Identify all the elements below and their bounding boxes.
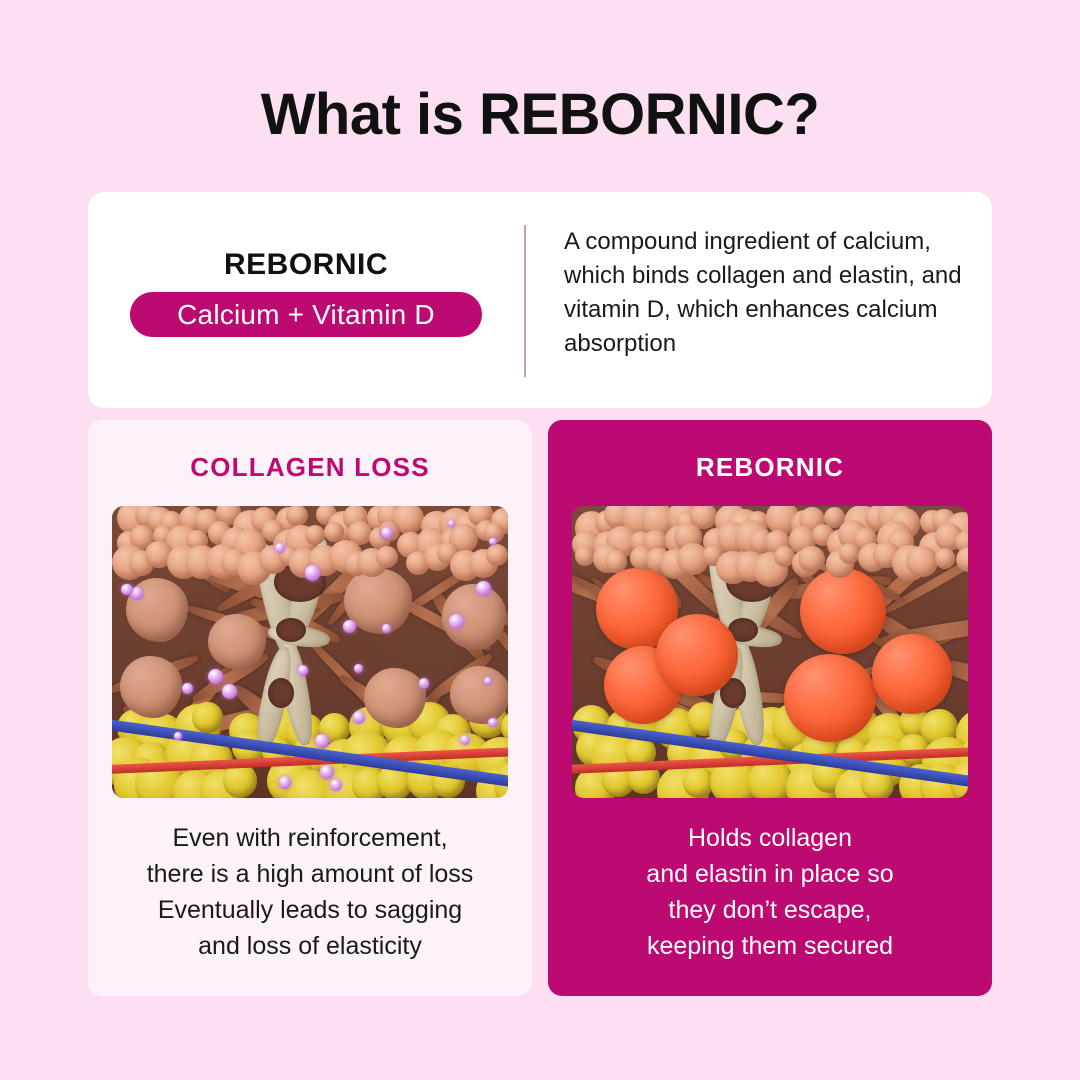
brand-ingredient-badge: Calcium + Vitamin D [130, 292, 482, 337]
fat-globule [192, 702, 222, 732]
calcium-particle [279, 776, 291, 788]
panel-rebornic: REBORNIC Holds collagenand elastin in pl… [548, 420, 992, 996]
caption-line: there is a high amount of loss [147, 860, 474, 888]
keratinocyte-cell [935, 548, 955, 568]
caption-line: Eventually leads to sagging [158, 896, 462, 924]
calcium-particle [382, 624, 391, 633]
calcium-particle [298, 665, 308, 675]
info-card-description: A compound ingredient of calcium, which … [564, 225, 984, 361]
calcium-particle [330, 779, 342, 791]
rebornic-sphere [872, 634, 952, 714]
keratinocyte-cell [798, 546, 824, 572]
illustration-rebornic [572, 506, 968, 798]
info-card-left: REBORNIC Calcium + Vitamin D [88, 192, 524, 408]
panel-collagen-loss: COLLAGEN LOSS Even with reinforcement,th… [88, 420, 532, 996]
calcium-particle [460, 735, 470, 745]
elastin-lattice-hole [276, 618, 306, 642]
epidermis-layer [572, 506, 968, 611]
keratinocyte-cell [305, 525, 325, 545]
collagen-mass [120, 656, 182, 718]
keratinocyte-cell [605, 550, 627, 572]
calcium-particle [315, 734, 329, 748]
info-card-divider [524, 225, 526, 377]
calcium-particle [489, 538, 496, 545]
caption-line: and elastin in place so [646, 860, 893, 888]
keratinocyte-cell [376, 546, 398, 568]
rebornic-sphere [784, 654, 876, 742]
calcium-particle [354, 664, 363, 673]
caption-line: Even with reinforcement, [172, 824, 447, 852]
panel-caption-rebornic: Holds collagenand elastin in place sothe… [548, 820, 992, 964]
calcium-particle [320, 765, 335, 780]
rebornic-sphere [656, 614, 738, 696]
keratinocyte-cell [956, 547, 968, 573]
caption-line: keeping them secured [647, 932, 893, 960]
calcium-particle [476, 581, 491, 596]
panel-heading-rebornic: REBORNIC [548, 452, 992, 483]
brand-name: REBORNIC [88, 248, 524, 282]
caption-line: Holds collagen [688, 824, 852, 852]
keratinocyte-cell [906, 546, 937, 577]
calcium-particle [448, 520, 455, 527]
page-title: What is REBORNIC? [0, 83, 1080, 147]
calcium-particle [174, 732, 182, 740]
panel-caption-collagen-loss: Even with reinforcement,there is a high … [88, 820, 532, 964]
collagen-mass [208, 614, 266, 670]
caption-line: and loss of elasticity [198, 932, 422, 960]
infographic-page: What is REBORNIC? REBORNIC Calcium + Vit… [0, 0, 1080, 1080]
collagen-mass [450, 666, 508, 724]
calcium-particle [305, 565, 320, 580]
panel-heading-collagen-loss: COLLAGEN LOSS [88, 452, 532, 483]
caption-line: they don’t escape, [669, 896, 872, 924]
illustration-collagen-loss [112, 506, 508, 798]
keratinocyte-cell [286, 506, 307, 526]
info-card: REBORNIC Calcium + Vitamin D A compound … [88, 192, 992, 408]
calcium-particle [419, 678, 429, 688]
fat-globule [683, 767, 715, 798]
keratinocyte-cell [839, 543, 860, 564]
collagen-mass [364, 668, 426, 728]
keratinocyte-cell [486, 544, 508, 566]
calcium-particle [488, 718, 498, 728]
elastin-lattice-hole [268, 678, 294, 708]
